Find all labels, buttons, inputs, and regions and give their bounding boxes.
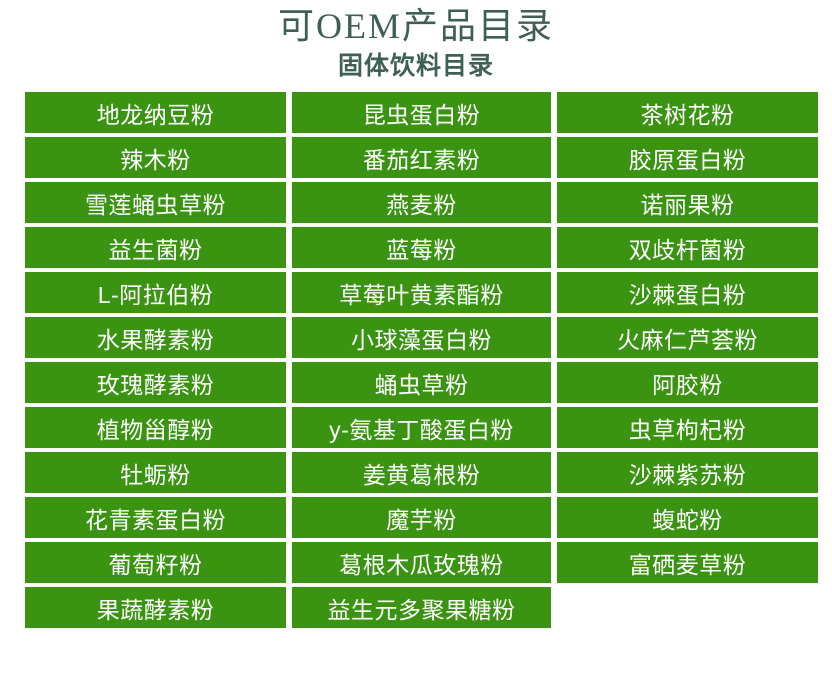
catalog-cell[interactable]: 双歧杆菌粉 bbox=[557, 227, 818, 268]
catalog-cell[interactable]: 水果酵素粉 bbox=[25, 317, 286, 358]
catalog-cell[interactable]: 地龙纳豆粉 bbox=[25, 92, 286, 133]
catalog-cell[interactable]: 诺丽果粉 bbox=[557, 182, 818, 223]
catalog-cell[interactable]: 雪莲蛹虫草粉 bbox=[25, 182, 286, 223]
catalog-row: L-阿拉伯粉草莓叶黄素酯粉沙棘蛋白粉 bbox=[25, 272, 818, 313]
catalog-row: 辣木粉番茄红素粉胶原蛋白粉 bbox=[25, 137, 818, 178]
catalog-row: 雪莲蛹虫草粉燕麦粉诺丽果粉 bbox=[25, 182, 818, 223]
catalog-cell[interactable]: 牡蛎粉 bbox=[25, 452, 286, 493]
catalog-row: 地龙纳豆粉昆虫蛋白粉茶树花粉 bbox=[25, 92, 818, 133]
catalog-cell[interactable]: 草莓叶黄素酯粉 bbox=[292, 272, 551, 313]
catalog-row: 葡萄籽粉葛根木瓜玫瑰粉富硒麦草粉 bbox=[25, 542, 818, 583]
catalog-cell[interactable]: 胶原蛋白粉 bbox=[557, 137, 818, 178]
product-grid: 地龙纳豆粉昆虫蛋白粉茶树花粉辣木粉番茄红素粉胶原蛋白粉雪莲蛹虫草粉燕麦粉诺丽果粉… bbox=[0, 92, 832, 628]
catalog-cell[interactable]: 富硒麦草粉 bbox=[557, 542, 818, 583]
catalog-row: 花青素蛋白粉魔芋粉蝮蛇粉 bbox=[25, 497, 818, 538]
catalog-cell[interactable]: 果蔬酵素粉 bbox=[25, 587, 286, 628]
catalog-row: 玫瑰酵素粉蛹虫草粉阿胶粉 bbox=[25, 362, 818, 403]
catalog-cell[interactable]: 玫瑰酵素粉 bbox=[25, 362, 286, 403]
product-catalog-page: 可OEM产品目录 固体饮料目录 地龙纳豆粉昆虫蛋白粉茶树花粉辣木粉番茄红素粉胶原… bbox=[0, 0, 832, 676]
catalog-cell[interactable]: 姜黄葛根粉 bbox=[292, 452, 551, 493]
catalog-cell[interactable]: 虫草枸杞粉 bbox=[557, 407, 818, 448]
catalog-cell[interactable]: 益生元多聚果糖粉 bbox=[292, 587, 551, 628]
catalog-cell[interactable]: 魔芋粉 bbox=[292, 497, 551, 538]
catalog-row: 益生菌粉蓝莓粉双歧杆菌粉 bbox=[25, 227, 818, 268]
catalog-cell[interactable]: 小球藻蛋白粉 bbox=[292, 317, 551, 358]
catalog-cell[interactable]: 燕麦粉 bbox=[292, 182, 551, 223]
catalog-row: 牡蛎粉姜黄葛根粉沙棘紫苏粉 bbox=[25, 452, 818, 493]
catalog-cell[interactable]: 沙棘蛋白粉 bbox=[557, 272, 818, 313]
catalog-cell[interactable]: 茶树花粉 bbox=[557, 92, 818, 133]
catalog-cell[interactable]: 益生菌粉 bbox=[25, 227, 286, 268]
catalog-row: 植物甾醇粉y-氨基丁酸蛋白粉虫草枸杞粉 bbox=[25, 407, 818, 448]
catalog-header: 可OEM产品目录 固体饮料目录 bbox=[0, 0, 832, 82]
catalog-cell[interactable]: 植物甾醇粉 bbox=[25, 407, 286, 448]
catalog-cell[interactable]: 番茄红素粉 bbox=[292, 137, 551, 178]
catalog-cell[interactable]: 蝮蛇粉 bbox=[557, 497, 818, 538]
page-title: 可OEM产品目录 bbox=[0, 4, 832, 48]
catalog-cell[interactable]: 蛹虫草粉 bbox=[292, 362, 551, 403]
catalog-cell[interactable]: 沙棘紫苏粉 bbox=[557, 452, 818, 493]
catalog-cell[interactable]: 葡萄籽粉 bbox=[25, 542, 286, 583]
catalog-cell[interactable]: 火麻仁芦荟粉 bbox=[557, 317, 818, 358]
catalog-cell[interactable]: 葛根木瓜玫瑰粉 bbox=[292, 542, 551, 583]
catalog-cell[interactable]: 昆虫蛋白粉 bbox=[292, 92, 551, 133]
page-subtitle: 固体饮料目录 bbox=[0, 50, 832, 82]
catalog-cell[interactable]: L-阿拉伯粉 bbox=[25, 272, 286, 313]
catalog-row: 果蔬酵素粉益生元多聚果糖粉 bbox=[25, 587, 818, 628]
catalog-cell[interactable]: 蓝莓粉 bbox=[292, 227, 551, 268]
catalog-cell-empty bbox=[557, 587, 818, 628]
catalog-cell[interactable]: 辣木粉 bbox=[25, 137, 286, 178]
catalog-cell[interactable]: 花青素蛋白粉 bbox=[25, 497, 286, 538]
catalog-cell[interactable]: 阿胶粉 bbox=[557, 362, 818, 403]
catalog-cell[interactable]: y-氨基丁酸蛋白粉 bbox=[292, 407, 551, 448]
catalog-row: 水果酵素粉小球藻蛋白粉火麻仁芦荟粉 bbox=[25, 317, 818, 358]
